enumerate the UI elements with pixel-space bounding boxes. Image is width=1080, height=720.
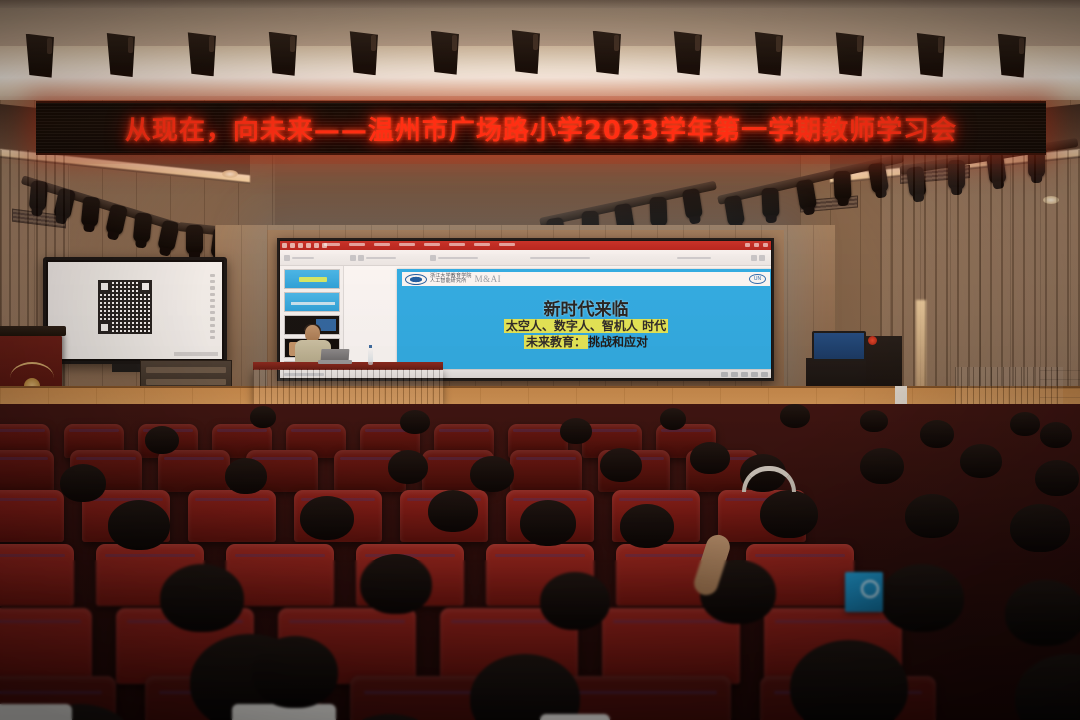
close-icon[interactable] (763, 243, 768, 247)
audience-member (690, 442, 730, 474)
audience-member (1040, 422, 1072, 448)
stage-light-icon (133, 212, 153, 243)
display-tool-icon[interactable] (210, 305, 215, 308)
audience-member (330, 714, 450, 720)
ribbon-bar[interactable] (280, 241, 771, 250)
display-tool-icon[interactable] (210, 317, 215, 320)
audience-area (0, 404, 1080, 720)
current-slide[interactable]: 浙江大学教育学院 人工智能研究所 M&AI UN 新时代来临 太空人、数字人、智… (397, 269, 771, 370)
ceiling-spotlight-icon (348, 31, 378, 75)
tab-view[interactable] (499, 243, 515, 246)
window-controls[interactable] (745, 243, 768, 247)
audience-member (470, 456, 514, 492)
audience-member (1005, 580, 1080, 646)
audience-member (225, 458, 267, 494)
display-tool-icon[interactable] (210, 293, 215, 296)
auditorium-seat (158, 450, 230, 492)
auditorium-seat (0, 544, 74, 606)
auditorium-seat (0, 450, 54, 492)
display-tool-icon[interactable] (210, 311, 215, 314)
audience-member (428, 490, 478, 532)
blue-notebook (845, 572, 883, 612)
normal-view-icon[interactable] (721, 372, 728, 377)
tab-home[interactable] (324, 243, 340, 246)
audience-member (960, 444, 1002, 478)
reading-view-icon[interactable] (741, 372, 748, 377)
align-icon[interactable] (430, 255, 436, 261)
stage-light-icon (761, 187, 779, 218)
audience-member (760, 490, 818, 538)
display-tool-icon[interactable] (210, 330, 215, 333)
qr-finder-icon (139, 280, 152, 293)
bold-icon[interactable] (350, 255, 356, 261)
podium-top (0, 326, 66, 336)
auditorium-seat (510, 450, 582, 492)
ribbon-tabs[interactable] (324, 243, 515, 246)
head-table-skirt (253, 369, 443, 405)
event-banner-text: 从现在，向未来——温州市广场路小学2023学年第一学期教师学习会 (36, 103, 1046, 153)
presentation-window[interactable]: 浙江大学教育学院 人工智能研究所 M&AI UN 新时代来临 太空人、数字人、智… (280, 241, 771, 378)
audience-member (860, 410, 888, 432)
slideshow-icon[interactable] (751, 372, 758, 377)
water-bottle (368, 348, 373, 365)
display-toolbar[interactable] (208, 274, 216, 339)
audience-member (1010, 504, 1070, 552)
audience-member (860, 448, 904, 484)
ceiling-spotlight-icon (186, 32, 216, 76)
ceiling-spotlight-icon (510, 30, 540, 74)
audience-member (360, 554, 432, 614)
ceiling-spotlight-icon (105, 33, 135, 77)
quick-access-toolbar[interactable] (282, 243, 327, 248)
tab-animations[interactable] (424, 243, 440, 246)
display-tool-icon[interactable] (210, 274, 215, 277)
maximize-icon[interactable] (754, 243, 759, 247)
audience-member (620, 504, 674, 548)
slide-line-2: 未来教育：挑战和应对 (397, 333, 771, 351)
audience-member (780, 404, 810, 428)
slide-line-2-highlight: 未来教育： (524, 335, 588, 349)
auditorium-photo: 从现在，向未来——温州市广场路小学2023学年第一学期教师学习会 (0, 0, 1080, 720)
display-tool-icon[interactable] (210, 336, 215, 339)
audience-member (1035, 460, 1079, 496)
auditorium-seat (0, 490, 64, 542)
tab-design[interactable] (374, 243, 390, 246)
audience-member-left-edge (0, 704, 72, 720)
audience-member (540, 572, 610, 630)
ceiling-spotlight-icon (834, 32, 864, 76)
italic-icon[interactable] (358, 255, 364, 261)
audience-member (660, 408, 686, 430)
slide-thumbnail[interactable] (284, 292, 340, 312)
slide-line-2-plain: 挑战和应对 (588, 335, 648, 349)
audience-member (388, 450, 428, 484)
stage-light-icon (833, 171, 851, 202)
formatting-toolbar[interactable] (280, 250, 771, 266)
ceiling-spotlight-icon (753, 32, 783, 76)
audience-member (1015, 654, 1080, 720)
audience-member (470, 654, 580, 720)
sorter-view-icon[interactable] (731, 372, 738, 377)
audience-member (905, 494, 959, 538)
ceiling-spotlight-icon (915, 33, 945, 77)
redo-icon[interactable] (298, 243, 303, 248)
stage-monitor (812, 331, 866, 361)
stage-light-icon (186, 225, 203, 255)
audience-member (920, 420, 954, 448)
ceiling-spotlight-icon (996, 34, 1026, 78)
left-touch-display[interactable] (43, 257, 227, 364)
auditorium-seat (0, 608, 92, 684)
ceiling-spotlight-icon (672, 31, 702, 75)
audience-member (108, 500, 170, 550)
zoom-slider[interactable] (761, 372, 768, 377)
tab-transitions[interactable] (399, 243, 415, 246)
qr-code-icon (98, 280, 152, 334)
slide-org-text: 浙江大学教育学院 人工智能研究所 (430, 274, 472, 285)
tab-slideshow[interactable] (449, 243, 465, 246)
qr-finder-icon (98, 321, 111, 334)
slide-badge: UN (749, 274, 766, 284)
slide-brand-text: M&AI (475, 274, 502, 284)
audience-member (400, 410, 430, 434)
university-logo-icon (405, 274, 427, 285)
paste-icon[interactable] (284, 255, 290, 261)
audience-member (790, 640, 908, 720)
downlight-icon (222, 170, 238, 178)
view-controls[interactable] (721, 372, 768, 377)
audience-member (1010, 412, 1040, 436)
audience-member-white-shirt-right (540, 714, 610, 720)
tab-insert[interactable] (349, 243, 365, 246)
play-icon[interactable] (306, 243, 311, 248)
audience-member (600, 448, 642, 482)
ceiling-spotlight-icon (591, 31, 621, 75)
stage-light-icon (649, 196, 667, 227)
tab-review[interactable] (474, 243, 490, 246)
ceiling-spotlight-icon (267, 32, 297, 76)
event-banner: 从现在，向未来——温州市广场路小学2023学年第一学期教师学习会 (36, 101, 1046, 155)
display-tool-icon[interactable] (210, 324, 215, 327)
undo-icon[interactable] (290, 243, 295, 248)
ceiling-spotlight-icon (429, 31, 459, 75)
print-icon[interactable] (314, 243, 319, 248)
select-icon[interactable] (759, 255, 765, 261)
stage-light-icon (81, 197, 101, 228)
audience-member (145, 426, 179, 454)
slide-header: 浙江大学教育学院 人工智能研究所 M&AI UN (402, 272, 770, 286)
audience-member (250, 406, 276, 428)
minimize-icon[interactable] (745, 243, 750, 247)
display-tool-icon[interactable] (210, 280, 215, 283)
auditorium-seat (188, 490, 276, 542)
audience-member (520, 500, 576, 546)
find-icon[interactable] (751, 255, 757, 261)
ceiling-spotlight-row (0, 28, 1080, 74)
display-tool-icon[interactable] (210, 299, 215, 302)
audience-member (160, 564, 244, 632)
ceiling-spotlight-icon (24, 34, 54, 78)
audience-member (300, 496, 354, 540)
audience-member (60, 464, 106, 502)
display-statusbar (174, 352, 218, 356)
audience-member (560, 418, 592, 444)
display-screen[interactable] (48, 262, 222, 359)
laptop (318, 349, 352, 364)
audience-face (320, 662, 346, 698)
indicator-light-icon (868, 336, 877, 345)
slide-thumbnail[interactable] (284, 269, 340, 289)
audience-member (880, 564, 964, 632)
slide-canvas[interactable]: 浙江大学教育学院 人工智能研究所 M&AI UN 新时代来临 太空人、数字人、智… (344, 266, 771, 369)
qr-finder-icon (98, 280, 111, 293)
save-icon[interactable] (282, 243, 287, 248)
display-tool-icon[interactable] (210, 286, 215, 289)
